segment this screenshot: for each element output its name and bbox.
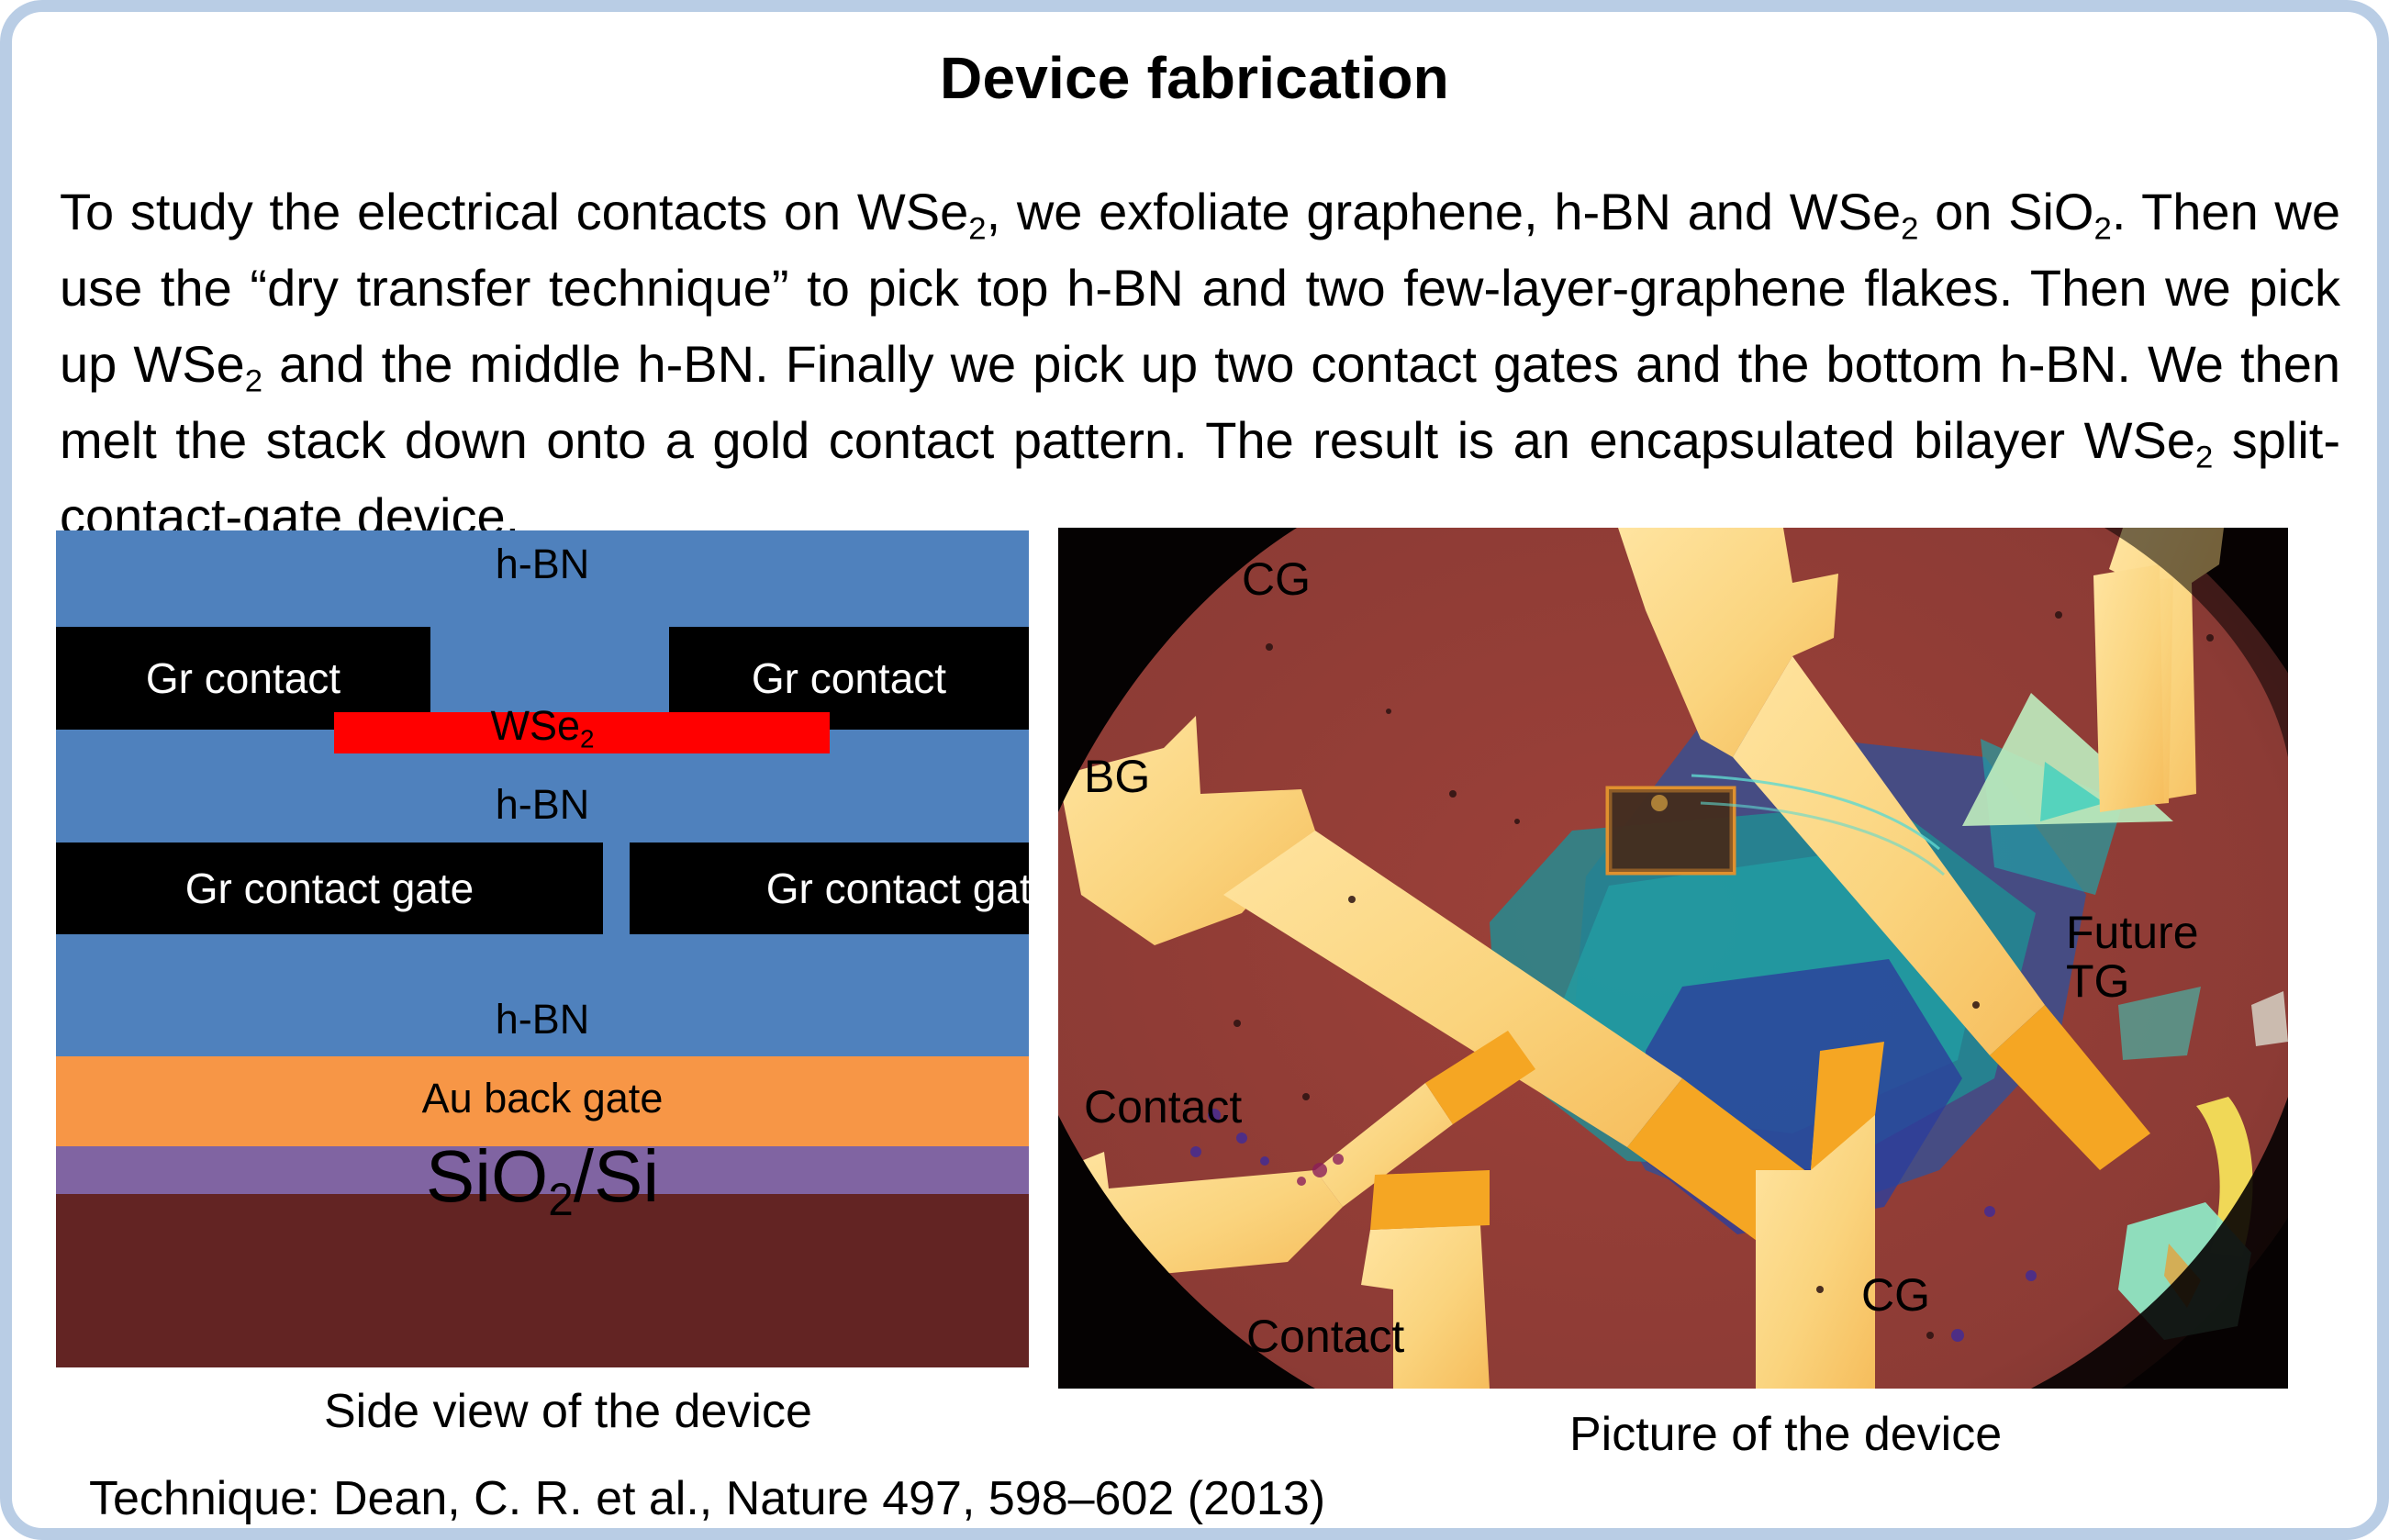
subscript: 2 [1901, 211, 1918, 246]
label-si-main: /Si [574, 1135, 659, 1217]
caption-picture: Picture of the device [1569, 1407, 2002, 1462]
subscript: 2 [2094, 211, 2112, 246]
footnote-reference: Technique: Dean, C. R. et al., Nature 49… [89, 1471, 1325, 1526]
page-title: Device fabrication [12, 44, 2377, 112]
label-sio2-sub: 2 [548, 1174, 574, 1225]
slide-frame: Device fabrication To study the electric… [0, 0, 2389, 1540]
label-hbn-bottom: h-BN [496, 999, 590, 1040]
caption-side-view: Side view of the device [324, 1384, 812, 1439]
annotation-future-tg: Future TG [2066, 909, 2199, 1005]
subscript: 2 [968, 211, 986, 246]
annotation-bg-left: BG [1084, 753, 1150, 801]
label-wse2: WSe2 [490, 705, 594, 746]
device-micrograph: CG BG Future TG Contact Contact CG [1058, 528, 2288, 1389]
subscript: 2 [245, 363, 262, 398]
label-sio2-si: SiO2/Si [426, 1140, 659, 1213]
label-sio2-main: SiO [426, 1135, 548, 1217]
annotation-cg-top: CG [1242, 555, 1311, 604]
annotation-future-tg-line2: TG [2066, 957, 2199, 1006]
device-side-view-diagram: h-BN Gr contact Gr contact WSe2 h-BN Gr … [56, 530, 1029, 1367]
subscript: 2 [2195, 440, 2213, 474]
label-wse2-main: WSe [490, 702, 580, 749]
label-hbn-top: h-BN [496, 543, 590, 585]
body-paragraph: To study the electrical contacts on WSe2… [60, 173, 2340, 554]
gr-contact-gate-right: Gr contact gate [630, 843, 1029, 934]
annotation-future-tg-line1: Future [2066, 909, 2199, 957]
label-wse2-sub: 2 [580, 724, 595, 753]
gr-contact-gate-left: Gr contact gate [56, 843, 603, 934]
annotation-cg-bottom: CG [1861, 1271, 1930, 1320]
si-substrate-layer [56, 1194, 1029, 1367]
label-au-back-gate: Au back gate [422, 1077, 664, 1119]
annotation-contact-bottom: Contact [1246, 1312, 1404, 1361]
annotation-contact-left: Contact [1084, 1083, 1242, 1132]
label-hbn-middle: h-BN [496, 784, 590, 825]
